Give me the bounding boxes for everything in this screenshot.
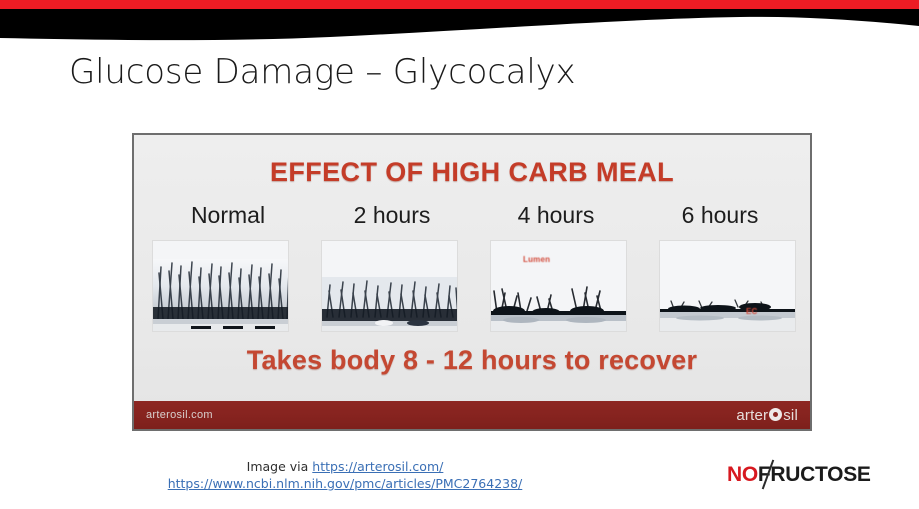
arterosil-wordmark: arter sil — [736, 407, 798, 424]
header-red-bar — [0, 0, 919, 9]
micrograph-normal — [152, 240, 289, 332]
annotation-ec: EC — [746, 307, 758, 316]
micrograph-6-hours: EC — [659, 240, 796, 332]
panel-label-4-hours: 4 hours — [480, 202, 632, 229]
figure-footline: Takes body 8 - 12 hours to recover — [134, 345, 810, 376]
micrograph-row: Lumen — [152, 240, 796, 332]
credits-prefix: Image via — [247, 459, 313, 474]
footer-domain-text: arterosil.com — [146, 409, 213, 421]
wordmark-prefix: arter — [736, 407, 768, 424]
figure-footer-bar: arterosil.com arter sil — [134, 401, 810, 429]
logo-no-text: NO — [727, 463, 758, 486]
credit-link-arterosil[interactable]: https://arterosil.com/ — [312, 459, 443, 474]
micrograph-4-hours: Lumen — [490, 240, 627, 332]
figure-headline: EFFECT OF HIGH CARB MEAL — [134, 157, 810, 188]
header-decoration — [0, 0, 919, 46]
panel-label-2-hours: 2 hours — [316, 202, 468, 229]
panel-label-row: Normal 2 hours 4 hours 6 hours — [152, 202, 796, 229]
logo-fructose-text: FRUCTOSE — [758, 463, 871, 486]
annotation-lumen: Lumen — [523, 255, 550, 264]
nofructose-logo: NOFRUCTOSE — [727, 461, 862, 491]
page-title: Glucose Damage – Glycocalyx — [69, 51, 575, 93]
panel-label-6-hours: 6 hours — [644, 202, 796, 229]
figure-canvas: EFFECT OF HIGH CARB MEAL Normal 2 hours … — [134, 135, 810, 429]
panel-label-normal: Normal — [152, 202, 304, 229]
micrograph-2-hours — [321, 240, 458, 332]
wordmark-o-icon — [769, 408, 782, 421]
arterosil-figure: EFFECT OF HIGH CARB MEAL Normal 2 hours … — [132, 133, 812, 431]
image-credits: Image via https://arterosil.com/ https:/… — [0, 458, 690, 492]
wordmark-suffix: sil — [783, 407, 798, 424]
logo-wordmark: NOFRUCTOSE — [727, 463, 871, 487]
credit-link-ncbi[interactable]: https://www.ncbi.nlm.nih.gov/pmc/article… — [168, 476, 523, 491]
